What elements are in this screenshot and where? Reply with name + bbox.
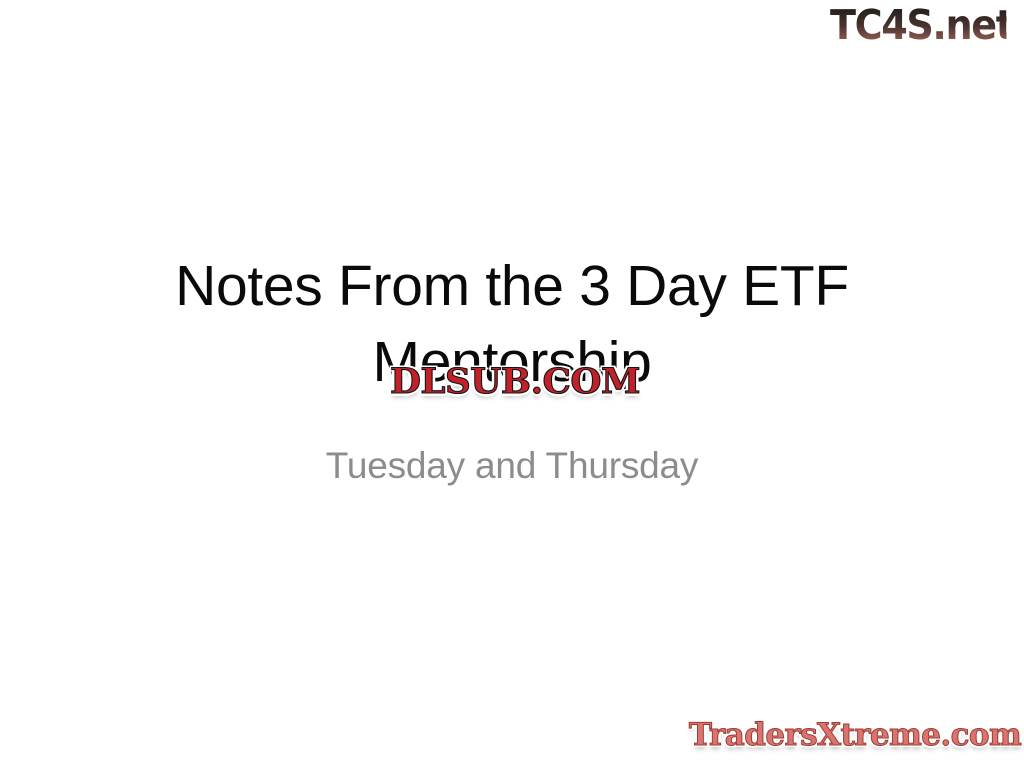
watermark-tc4s: TC4S.net (830, 1, 1007, 49)
slide-subtitle: Tuesday and Thursday (140, 443, 884, 489)
watermark-dlsub: DLSUB.COM (363, 360, 667, 404)
subtitle-placeholder[interactable]: Tuesday and Thursday (140, 443, 884, 489)
presentation-slide: Notes From the 3 Day ETF Mentorship Tues… (0, 0, 1024, 768)
watermark-tradersxtreme: TradersXtreme.com (688, 714, 1022, 756)
